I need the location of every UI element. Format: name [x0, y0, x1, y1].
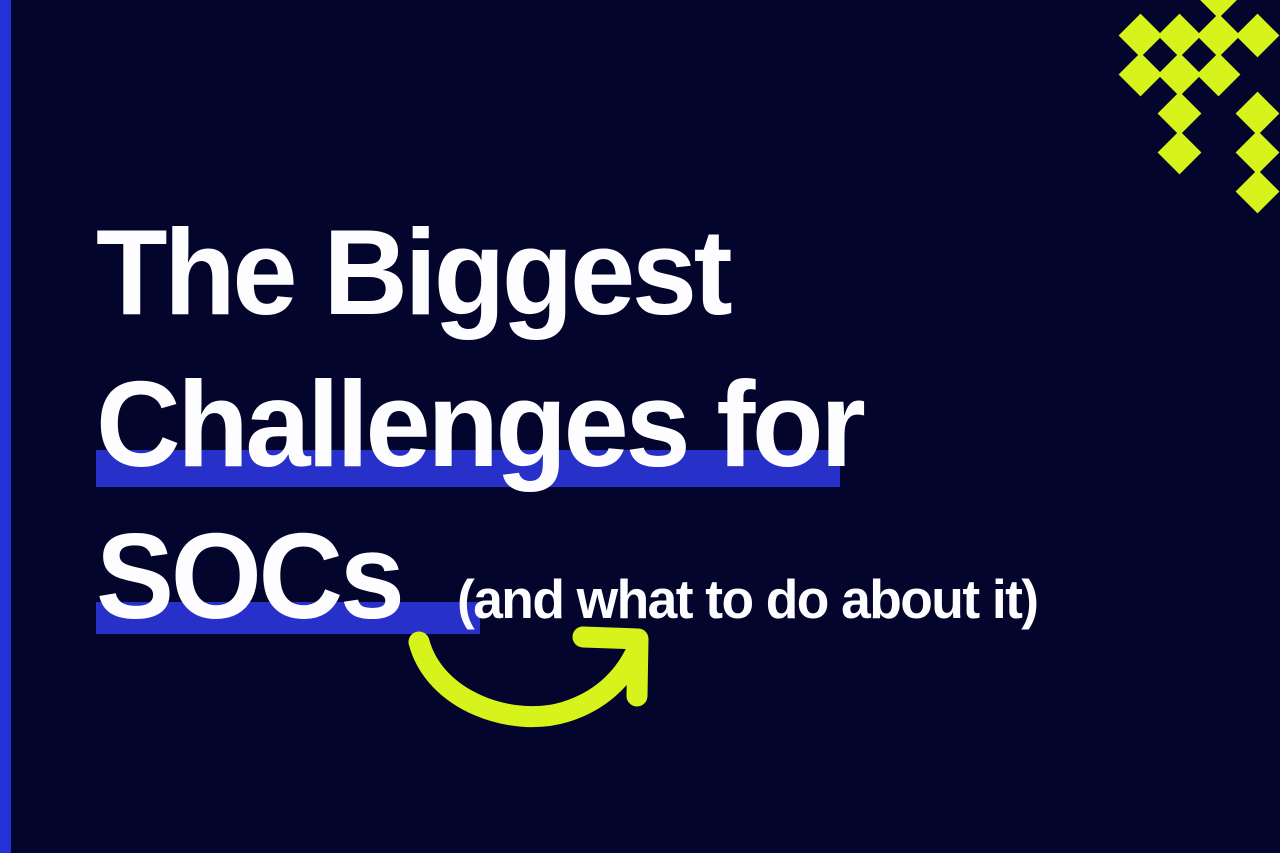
diamond-icon [1236, 131, 1280, 175]
diamond-icon [1236, 92, 1280, 136]
curved-arrow-up-right-icon [405, 624, 655, 739]
diamond-icon [1236, 14, 1280, 58]
left-accent-stripe [0, 0, 11, 853]
diamond-icon [1119, 14, 1163, 58]
title-line-3-text: SOCs [96, 508, 402, 644]
diamond-icon [1236, 170, 1280, 214]
diamond-icon [1158, 14, 1202, 58]
title-line-1-text: The Biggest [96, 204, 729, 340]
diamond-icon [1158, 92, 1202, 136]
subtitle: (and what to do about it) [457, 572, 1038, 627]
diamond-icon [1158, 53, 1202, 97]
diamond-icon [1197, 53, 1241, 97]
diamond-icon [1197, 14, 1241, 58]
slide-canvas: The Biggest Challenges for SOCs (and wha… [0, 0, 1280, 853]
title-line-2: Challenges for [96, 348, 1152, 500]
diamond-pattern [1108, 0, 1280, 218]
diamond-icon [1119, 53, 1163, 97]
page-title: The Biggest Challenges for [96, 196, 1196, 500]
title-line-3: SOCs [96, 500, 402, 652]
title-line-2-text: Challenges for [96, 356, 862, 492]
title-line-1: The Biggest [96, 196, 1152, 348]
diamond-icon [1158, 131, 1202, 175]
